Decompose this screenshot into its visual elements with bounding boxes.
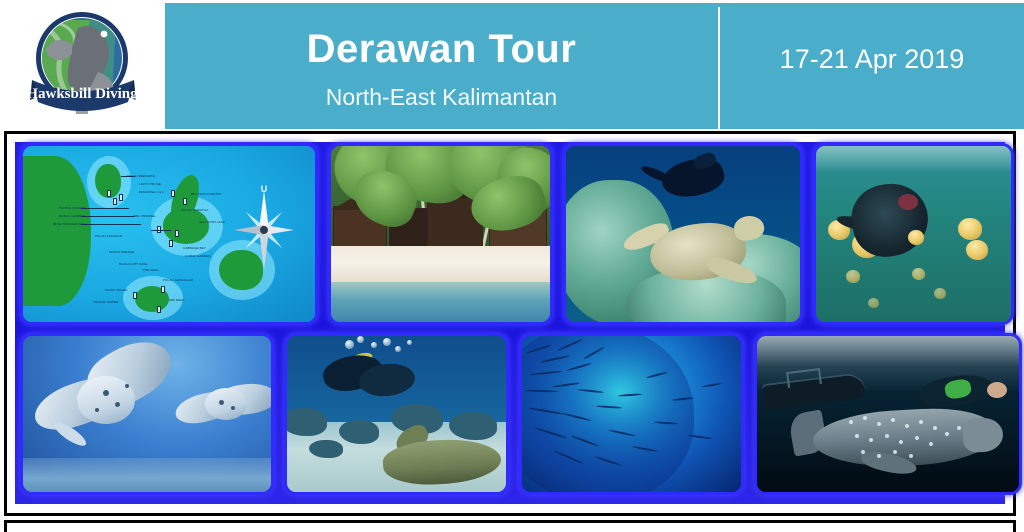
- bottom-panel: [4, 523, 1016, 532]
- dive-site-marker: [119, 194, 123, 201]
- air-bubble: [407, 340, 412, 345]
- photo-barracuda-school[interactable]: [522, 336, 741, 492]
- coral-rock: [309, 440, 343, 458]
- reef-floor: [23, 458, 271, 492]
- jellyfish: [912, 268, 925, 280]
- title-block: Derawan Tour North-East Kalimantan: [165, 3, 718, 129]
- dive-site-marker: [183, 198, 187, 205]
- map-label: LIGHT HOUSE: [139, 182, 161, 186]
- manta-ray-large: [33, 350, 165, 446]
- snorkeler-mask: [898, 194, 918, 210]
- coral-rock: [287, 408, 327, 436]
- dive-site-marker: [157, 306, 161, 313]
- map-label: BIG FISH COUNTRY: [191, 192, 222, 196]
- dive-site-marker: [133, 292, 137, 299]
- map-label: MANTA PARADE: [109, 250, 134, 254]
- photo-jellyfish-lake[interactable]: [816, 146, 1011, 322]
- snorkeler-head: [987, 382, 1007, 398]
- jellyfish: [966, 240, 988, 260]
- dive-site-marker: [175, 230, 179, 237]
- presentation-slide: Hawksbill Diving Derawan Tour North-East…: [0, 0, 1024, 532]
- map-label: THE WALL: [143, 268, 159, 272]
- map-label: BLUE LIGHT CAVE: [119, 262, 148, 266]
- air-bubble: [357, 336, 364, 343]
- air-bubble: [371, 342, 377, 348]
- photo-gallery: PULAU DERAWAN LIGHT HOUSE PARADISE 1 & 2…: [15, 142, 1005, 504]
- gallery-row-top: PULAU DERAWAN LIGHT HOUSE PARADISE 1 & 2…: [15, 146, 1019, 330]
- map-label: PULAU SANGALAKI: [163, 278, 193, 282]
- air-bubble: [395, 346, 401, 352]
- map-label: SANDY RIDGE: [105, 288, 127, 292]
- content-frame: PULAU DERAWAN LIGHT HOUSE PARADISE 1 & 2…: [4, 131, 1016, 516]
- photo-beach-resort[interactable]: [331, 146, 550, 322]
- logo-zone: Hawksbill Diving: [0, 0, 165, 130]
- photo-whale-shark[interactable]: [757, 336, 1019, 492]
- map-label: TURTLE TOWER: [93, 300, 118, 304]
- date-block: 17-21 Apr 2019: [720, 3, 1024, 129]
- page-subtitle: North-East Kalimantan: [326, 84, 557, 111]
- dive-site-marker: [107, 190, 111, 197]
- compass-north-label: U: [261, 184, 268, 194]
- jellyfish: [868, 298, 879, 308]
- map-label: JELLYFISH LAKE: [199, 220, 225, 224]
- map-label: PULAU MARATUA: [181, 208, 208, 212]
- dive-site-marker: [113, 198, 117, 205]
- logo-brand-text: Hawksbill Diving: [26, 86, 138, 102]
- photo-dive-site-map[interactable]: PULAU DERAWAN LIGHT HOUSE PARADISE 1 & 2…: [23, 146, 315, 322]
- manta-ray-small: [175, 374, 271, 436]
- tour-date: 17-21 Apr 2019: [780, 44, 965, 75]
- map-label: THE CHANNEL: [133, 214, 156, 218]
- dive-site-marker: [169, 240, 173, 247]
- jellyfish: [958, 218, 982, 240]
- map-label: PARADISE 1 & 2: [139, 190, 164, 194]
- water-surface: [816, 146, 1011, 172]
- air-bubble: [345, 340, 354, 349]
- air-bubble: [383, 338, 391, 346]
- map-label: CABBAGE BAY: [183, 246, 206, 250]
- slide-header: Hawksbill Diving Derawan Tour North-East…: [0, 0, 1024, 130]
- compass-rose-icon: U: [231, 188, 297, 272]
- jellyfish: [908, 230, 924, 245]
- jellyfish: [846, 270, 860, 283]
- dive-site-marker: [171, 190, 175, 197]
- photo-green-turtle[interactable]: [566, 146, 800, 322]
- header-title-bar: Derawan Tour North-East Kalimantan 17-21…: [165, 3, 1024, 129]
- gallery-row-bottom: [15, 336, 1024, 500]
- map-label: PULAU KAKABAN: [95, 234, 122, 238]
- manta-body: [205, 388, 247, 420]
- coral-rock: [339, 420, 379, 444]
- white-sand-beach: [331, 246, 550, 284]
- photo-manta-rays[interactable]: [23, 336, 271, 492]
- page-title: Derawan Tour: [307, 28, 577, 70]
- photo-divers-nurse-shark[interactable]: [287, 336, 506, 492]
- jellyfish: [934, 288, 946, 299]
- shallow-water: [331, 282, 550, 322]
- mainland-borneo: [23, 156, 91, 306]
- map-label: CORAL GARDEN: [185, 254, 211, 258]
- map-label: MID REEF: [169, 298, 185, 302]
- coral-rock: [449, 412, 497, 440]
- dive-site-marker: [161, 286, 165, 293]
- hawksbill-diving-logo: Hawksbill Diving: [20, 6, 145, 124]
